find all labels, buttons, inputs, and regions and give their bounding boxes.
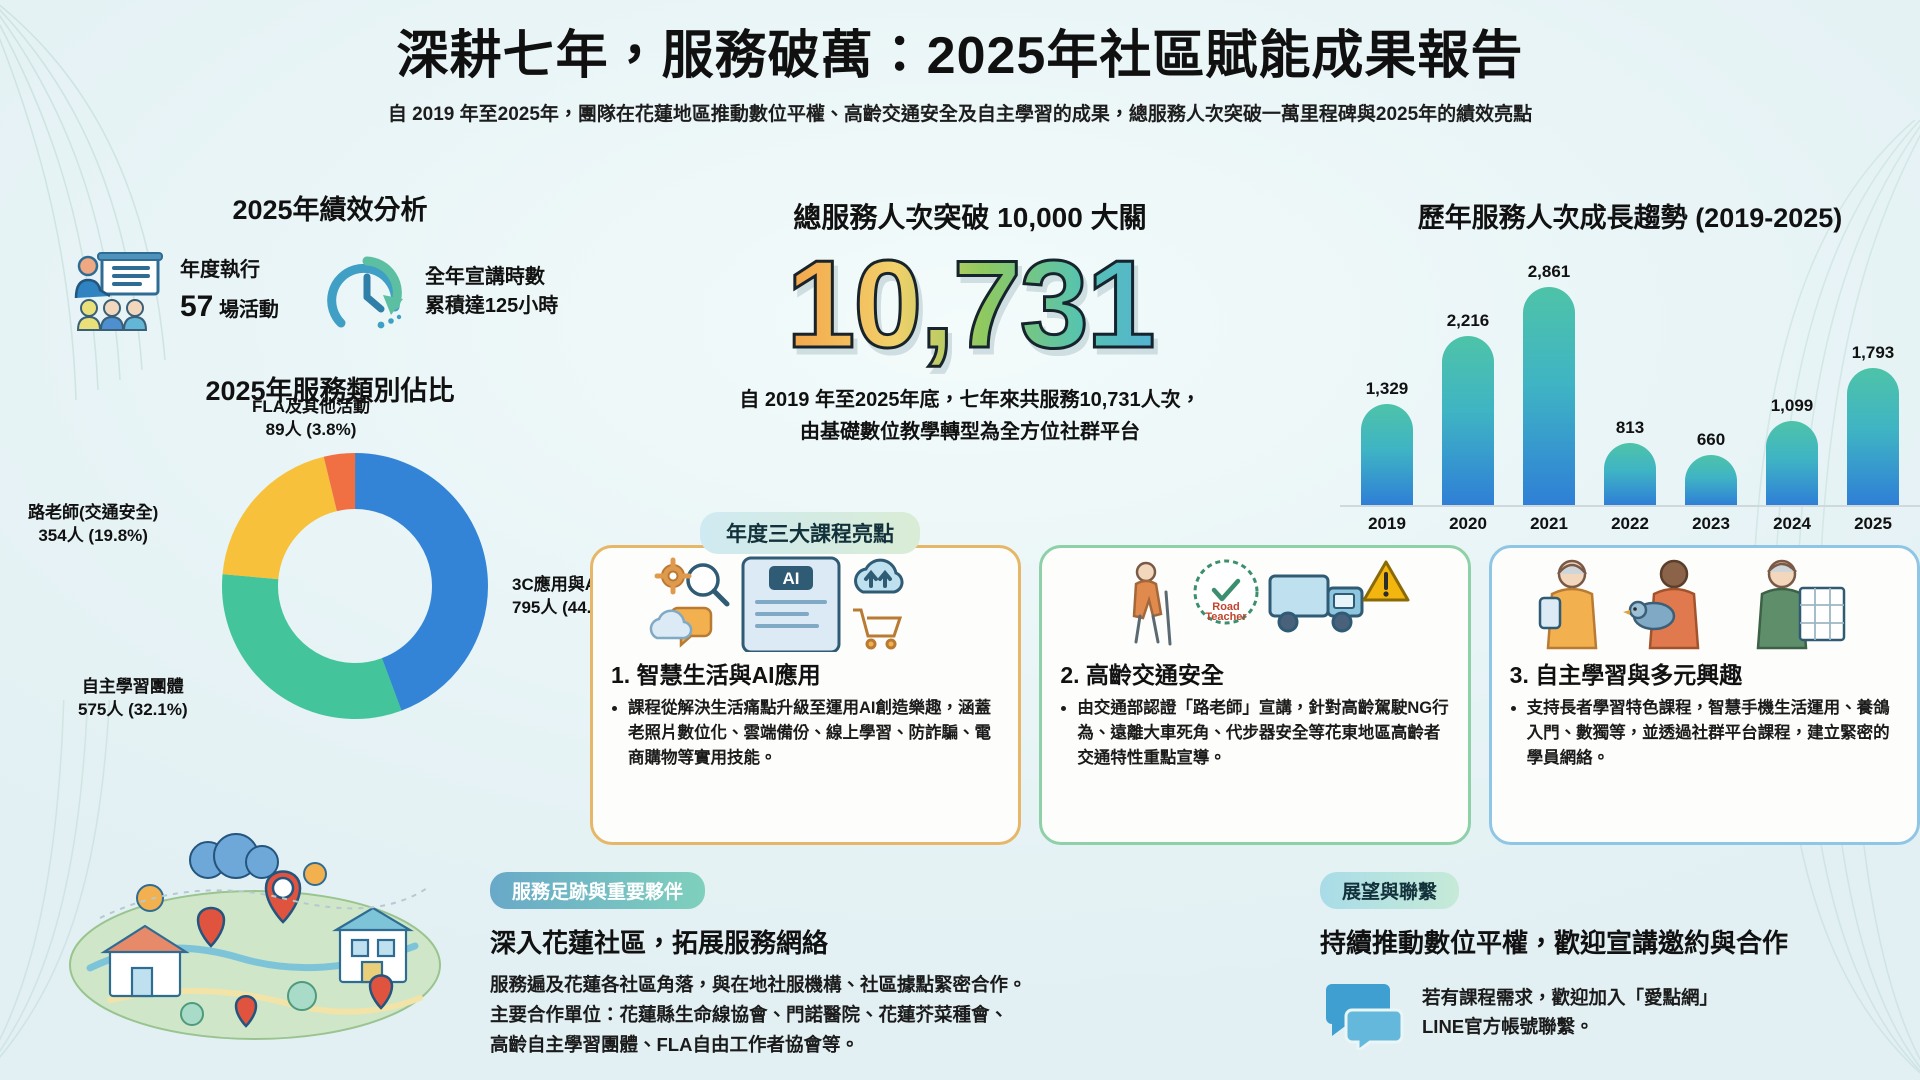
outlook-heading: 持續推動數位平權，歡迎宣講邀約與合作	[1320, 923, 1920, 960]
total-note-line2: 由基礎數位教學轉型為全方位社群平台	[660, 416, 1280, 448]
bar-column: 2,216	[1439, 253, 1497, 505]
footprint-body-line2: 主要合作單位：花蓮縣生命線協會、門諾醫院、花蓮芥菜種會、	[490, 1000, 1130, 1030]
footprint-section: 服務足跡與重要夥伴 深入花蓮社區，拓展服務網絡 服務遍及花蓮各社區角落，與在地社…	[490, 872, 1130, 1060]
bar-chart-plot: 1,329 2,216 2,861 813 660 1,099 1,793	[1340, 253, 1920, 507]
highlight-card-2-heading: 2. 高齡交通安全	[1060, 656, 1449, 690]
bar-chart-x-axis: 2019 2020 2021 2022 2023 2024 2025	[1340, 514, 1920, 534]
road-teacher-stamp: Road Teacher	[1195, 561, 1257, 623]
bar-2023	[1685, 455, 1737, 505]
donut-label-selflearning: 自主學習團體 575人 (32.1%)	[78, 676, 188, 722]
performance-section-title: 2025年績效分析	[0, 188, 700, 227]
bar-column: 1,793	[1844, 253, 1902, 505]
bar-value-label: 1,329	[1366, 379, 1409, 399]
bar-category-label: 2023	[1682, 514, 1740, 534]
senior-bird-icon	[1623, 561, 1698, 648]
bar-category-label: 2019	[1358, 514, 1416, 534]
bar-column: 813	[1601, 253, 1659, 505]
service-category-donut-chart	[205, 436, 505, 736]
contact-text: 若有課程需求，歡迎加入「愛點網」 LINE官方帳號聯繫。	[1422, 984, 1718, 1041]
highlights-badge: 年度三大課程亮點	[700, 512, 920, 554]
stat-activities-text: 年度執行 57 場活動	[180, 256, 279, 329]
senior-sudoku-icon	[1758, 561, 1844, 648]
outlook-section: 展望與聯繫 持續推動數位平權，歡迎宣講邀約與合作 若有課程需求，歡迎加入「愛點網…	[1320, 872, 1920, 1050]
total-caption: 總服務人次突破 10,000 大關	[660, 196, 1280, 236]
highlight-card-1-heading: 1. 智慧生活與AI應用	[611, 656, 1000, 690]
bar-value-label: 813	[1616, 418, 1644, 438]
ai-tablet-illustration: AI	[593, 556, 993, 652]
donut-label-fla: FLA及其他活動 89人 (3.8%)	[252, 396, 370, 442]
highlight-card-2-bullet: 由交通部認證「路老師」宣講，針對高齡駕駛NG行為、遠離大車死角、代步器安全等花東…	[1077, 696, 1449, 770]
shopping-cart-icon	[853, 610, 900, 648]
stat-hours: 全年宣講時數 累積達125小時	[321, 249, 558, 335]
bar-category-label: 2020	[1439, 514, 1497, 534]
stamp-line2: Teacher	[1206, 611, 1248, 623]
highlight-cards: AI	[590, 545, 1920, 845]
total-note: 自 2019 年至2025年底，七年來共服務10,731人次， 由基礎數位教學轉…	[660, 384, 1280, 448]
bar-column: 1,099	[1763, 253, 1821, 505]
svg-text:AI: AI	[783, 569, 800, 588]
bar-2025	[1847, 368, 1899, 505]
bar-2021	[1523, 287, 1575, 505]
footprint-body-line1: 服務遍及花蓮各社區角落，與在地社服機構、社區據點緊密合作。	[490, 970, 1130, 1000]
stat-activities-label: 年度執行	[180, 256, 279, 285]
outlook-pill: 展望與聯繫	[1320, 872, 1459, 909]
bar-value-label: 1,099	[1771, 396, 1814, 416]
contact-row: 若有課程需求，歡迎加入「愛點網」 LINE官方帳號聯繫。	[1320, 976, 1920, 1050]
center-column: 總服務人次突破 10,000 大關 10,731 自 2019 年至2025年底…	[660, 196, 1280, 448]
bar-column: 1,329	[1358, 253, 1416, 505]
bar-value-label: 660	[1697, 430, 1725, 450]
footprint-heading: 深入花蓮社區，拓展服務網絡	[490, 923, 1130, 960]
bar-2020	[1442, 336, 1494, 505]
stat-activities: 年度執行 57 場活動	[72, 250, 279, 334]
bar-2024	[1766, 421, 1818, 505]
footprint-body: 服務遍及花蓮各社區角落，與在地社服機構、社區據點緊密合作。 主要合作單位：花蓮縣…	[490, 970, 1130, 1060]
cloud-upload-icon	[856, 560, 903, 592]
senior-learning-illustration	[1492, 556, 1892, 652]
warning-icon	[1364, 562, 1408, 600]
contact-line2: LINE官方帳號聯繫。	[1422, 1013, 1718, 1042]
footprint-pill: 服務足跡與重要夥伴	[490, 872, 705, 909]
contact-line1: 若有課程需求，歡迎加入「愛點網」	[1422, 984, 1718, 1013]
stat-hours-text: 全年宣講時數 累積達125小時	[425, 263, 558, 321]
page-subtitle: 自 2019 年至2025年，團隊在花蓮地區推動數位平權、高齡交通安全及自主學習…	[0, 99, 1920, 126]
bar-value-label: 2,861	[1528, 262, 1571, 282]
right-column: 歷年服務人次成長趨勢 (2019-2025) 1,329 2,216 2,861…	[1340, 196, 1920, 534]
stat-hours-value: 累積達125小時	[425, 292, 558, 321]
bar-category-label: 2021	[1520, 514, 1578, 534]
bar-column: 2,861	[1520, 253, 1578, 505]
highlight-card-3-heading: 3. 自主學習與多元興趣	[1510, 656, 1899, 690]
senior-traffic-illustration: Road Teacher	[1042, 556, 1442, 652]
presenter-icon	[72, 250, 168, 334]
total-note-line1: 自 2019 年至2025年底，七年來共服務10,731人次，	[660, 384, 1280, 416]
bar-column: 660	[1682, 253, 1740, 505]
highlight-card-3-list: 支持長者學習特色課程，智慧手機生活運用、養鴿入門、數獨等，並透過社群平台課程，建…	[1510, 696, 1899, 770]
total-number: 10,731	[660, 240, 1280, 370]
bar-category-label: 2024	[1763, 514, 1821, 534]
senior-phone-icon	[1540, 561, 1596, 648]
highlight-card-3-bullet: 支持長者學習特色課程，智慧手機生活運用、養鴿入門、數獨等，並透過社群平台課程，建…	[1527, 696, 1899, 770]
bar-chart-title: 歷年服務人次成長趨勢 (2019-2025)	[1340, 196, 1920, 235]
page-header: 深耕七年，服務破萬：2025年社區賦能成果報告 自 2019 年至2025年，團…	[0, 0, 1920, 126]
bar-2019	[1361, 404, 1413, 505]
bar-2022	[1604, 443, 1656, 505]
highlight-card-3[interactable]: 3. 自主學習與多元興趣 支持長者學習特色課程，智慧手機生活運用、養鴿入門、數獨…	[1489, 545, 1920, 845]
chat-bubbles-icon	[1320, 976, 1406, 1050]
highlight-card-2[interactable]: Road Teacher 2. 高齡交通安全 由交通部認證「路老師」宣講，針對高…	[1039, 545, 1470, 845]
magnifier-icon	[688, 565, 727, 604]
bar-category-label: 2022	[1601, 514, 1659, 534]
highlight-card-1-list: 課程從解決生活痛點升級至運用AI創造樂趣，涵蓋老照片數位化、雲端備份、線上學習、…	[611, 696, 1000, 770]
community-map-illustration	[40, 800, 480, 1050]
performance-stats: 年度執行 57 場活動 全年宣講時數 累積達125小時	[0, 249, 700, 335]
bar-value-label: 2,216	[1447, 311, 1490, 331]
elderly-walker-icon	[1134, 563, 1170, 644]
donut-label-roadteacher: 路老師(交通安全) 354人 (19.8%)	[28, 502, 158, 548]
highlight-card-1[interactable]: AI	[590, 545, 1021, 845]
stat-activities-value: 57	[180, 290, 213, 323]
page-title: 深耕七年，服務破萬：2025年社區賦能成果報告	[0, 28, 1920, 85]
bar-value-label: 1,793	[1852, 343, 1895, 363]
footprint-body-line3: 高齡自主學習團體、FLA自由工作者協會等。	[490, 1030, 1130, 1060]
clock-icon	[321, 249, 413, 335]
highlight-card-2-list: 由交通部認證「路老師」宣講，針對高齡駕駛NG行為、遠離大車死角、代步器安全等花東…	[1060, 696, 1449, 770]
stat-activities-unit: 場活動	[219, 299, 279, 321]
highlight-card-1-bullet: 課程從解決生活痛點升級至運用AI創造樂趣，涵蓋老照片數位化、雲端備份、線上學習、…	[628, 696, 1000, 770]
stat-hours-label: 全年宣講時數	[425, 263, 558, 292]
bar-category-label: 2025	[1844, 514, 1902, 534]
truck-icon	[1270, 576, 1362, 631]
gear-icon	[657, 560, 689, 592]
